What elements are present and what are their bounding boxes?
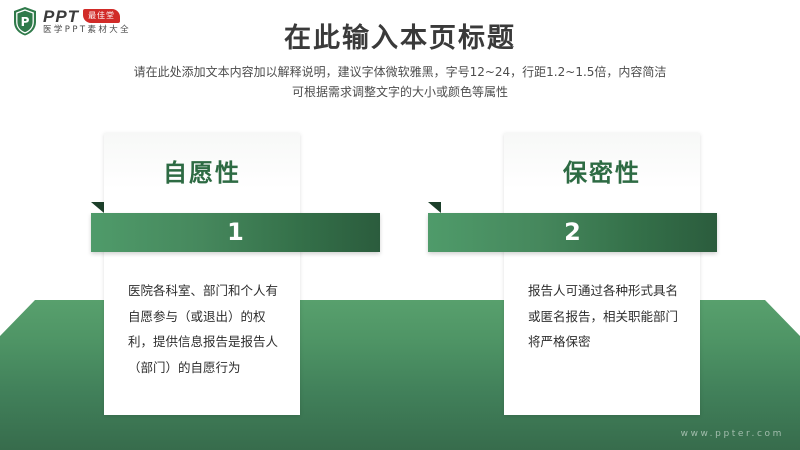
ribbon-banner-1: 1 [91,202,380,252]
ribbon-number-2: 2 [428,202,717,252]
content-card-1: 自愿性 医院各科室、部门和个人有自愿参与（或退出）的权利，提供信息报告是报告人（… [104,133,300,415]
card-2-heading: 保密性 [504,153,700,188]
card-2-body: 报告人可通过各种形式具名或匿名报告，相关职能部门将严格保密 [528,278,682,355]
ribbon-banner-2: 2 [428,202,717,252]
page-subtitle: 请在此处添加文本内容加以解释说明，建议字体微软雅黑，字号12~24，行距1.2~… [0,63,800,103]
site-watermark: www.ppter.com [681,429,784,439]
page-title: 在此输入本页标题 [0,16,800,55]
page-subtitle-line-2: 可根据需求调整文字的大小或颜色等属性 [0,83,800,103]
card-1-body: 医院各科室、部门和个人有自愿参与（或退出）的权利，提供信息报告是报告人（部门）的… [128,278,282,381]
page-subtitle-line-1: 请在此处添加文本内容加以解释说明，建议字体微软雅黑，字号12~24，行距1.2~… [0,63,800,83]
content-card-2: 保密性 报告人可通过各种形式具名或匿名报告，相关职能部门将严格保密 [504,133,700,415]
ribbon-number-1: 1 [91,202,380,252]
card-1-heading: 自愿性 [104,153,300,188]
